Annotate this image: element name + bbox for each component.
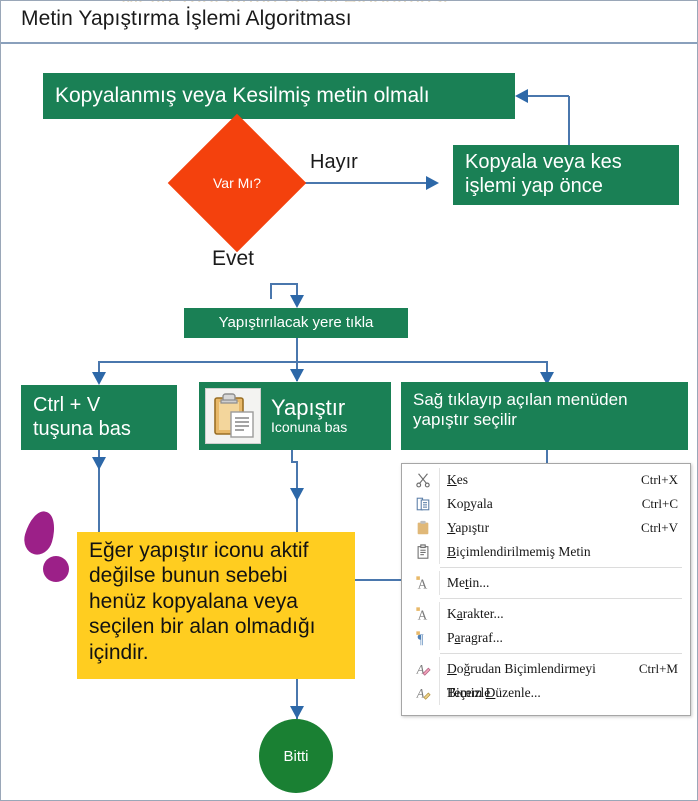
connector-evet-to-click-left-riser	[270, 283, 272, 299]
menu-item-kopyala[interactable]: Kopyala Ctrl+C	[402, 492, 690, 516]
process-copy-or-cut-first-line1: Kopyala veya kes	[465, 151, 622, 173]
process-start-condition-label: Kopyalanmış veya Kesilmiş metin olmalı	[55, 84, 430, 109]
page-title: Metin Yapıştırma İşlemi Algoritması	[21, 7, 661, 31]
process-option-right-click-menu-label: Sağ tıklayıp açılan menüden yapıştır seç…	[413, 390, 628, 430]
menu-item-kes-label: KKeses	[439, 468, 641, 492]
process-option-right-click-menu-line1: Sağ tıklayıp açılan menüden	[413, 390, 628, 409]
menu-item-metin-label: Metin...	[439, 571, 678, 595]
process-copy-or-cut-first-label: Kopyala veya kes işlemi yap önce	[465, 151, 622, 198]
menu-separator	[440, 653, 682, 654]
connector-end-arrowhead	[290, 706, 304, 719]
flowchart-canvas: Metin Yapıştırma İşlemi Algoritması Meti…	[0, 0, 698, 801]
menu-item-kopyala-label: Kopyala	[439, 492, 642, 516]
edge-label-hayir: Hayır	[310, 151, 358, 174]
menu-item-karakter-label: Karakter...	[439, 602, 678, 626]
connector-evet-to-click-horizontal	[270, 283, 297, 285]
note-line-4: seçilen bir alan olmadığı	[89, 615, 315, 638]
exclamation-stroke-icon	[20, 508, 59, 558]
process-option-ctrl-v-label: Ctrl + V tuşuna bas	[33, 394, 131, 441]
process-option-paste-icon-subtitle: Iconuna bas	[271, 419, 347, 436]
process-option-paste-icon[interactable]: Yapıştır Iconuna bas	[199, 382, 391, 450]
copy-icon	[408, 496, 438, 512]
menu-item-bicimlendirilmemis-metin[interactable]: Biçimlendirilmemiş Metin	[402, 540, 690, 564]
connector-branch-left-arrowhead	[92, 372, 106, 385]
menu-item-paragraf-label: Paragraf...	[439, 626, 678, 650]
process-option-paste-icon-title: Yapıştır	[271, 396, 347, 419]
process-option-right-click-menu-line2: yapıştır seçilir	[413, 410, 517, 429]
menu-item-bicem-duzenle[interactable]: A Biçem Düzenle...	[402, 681, 690, 705]
note-line-5: içindir.	[89, 641, 149, 664]
process-click-paste-location-label: Yapıştırılacak yere tıkla	[219, 314, 374, 332]
clipboard-paste-icon	[408, 520, 438, 536]
edit-style-icon: A	[408, 685, 438, 701]
connector-no-branch	[286, 182, 434, 184]
note-line-3: henüz kopyalana veya	[89, 590, 298, 613]
menu-item-yapistir-label: Yapıştır	[439, 516, 641, 540]
character-a-icon: A	[408, 606, 438, 622]
connector-branch-bus	[98, 361, 547, 363]
note-callout: Eğer yapıştır iconu aktif değilse bunun …	[77, 532, 355, 679]
process-option-ctrl-v-line2: tuşuna bas	[33, 418, 131, 440]
process-start-condition[interactable]: Kopyalanmış veya Kesilmiş metin olmalı	[43, 73, 515, 119]
svg-text:A: A	[416, 686, 425, 700]
menu-item-paragraf[interactable]: ¶ Paragraf...	[402, 626, 690, 650]
menu-item-bicimlendirilmemis-metin-label: Biçimlendirilmemiş Metin	[439, 540, 678, 564]
exclamation-dot-icon	[43, 556, 69, 582]
process-copy-or-cut-first[interactable]: Kopyala veya kes işlemi yap önce	[453, 145, 679, 205]
process-option-ctrl-v[interactable]: Ctrl + V tuşuna bas	[21, 385, 177, 450]
text-a-icon: A	[408, 575, 438, 591]
clipboard-text-icon	[408, 544, 438, 560]
connector-no-branch-arrowhead	[426, 176, 439, 190]
title-divider	[1, 42, 698, 44]
connector-feedback-vertical	[568, 96, 570, 146]
context-menu[interactable]: KKeses Ctrl+X Kopyala Ctrl+C Yapıştır Ct…	[401, 463, 691, 716]
connector-icon-arrowhead	[290, 488, 304, 501]
menu-item-bicem-duzenle-label: Biçem Düzenle...	[439, 681, 678, 705]
menu-item-yapistir[interactable]: Yapıştır Ctrl+V	[402, 516, 690, 540]
menu-separator	[440, 598, 682, 599]
decision-var-mi[interactable]: Var Mı?	[188, 134, 286, 232]
process-option-ctrl-v-line1: Ctrl + V	[33, 394, 100, 416]
connector-feedback-horizontal	[528, 95, 569, 97]
menu-item-dogrudan-bicimlendirmeyi-temizle[interactable]: A Doğrudan Biçimlendirmeyi Temizle Ctrl+…	[402, 657, 690, 681]
menu-item-yapistir-accel: Ctrl+V	[641, 520, 682, 536]
connector-evet-to-click-arrowhead	[290, 295, 304, 308]
menu-item-dogrudan-bicimlendirmeyi-temizle-accel: Ctrl+M	[639, 661, 682, 677]
process-option-paste-icon-labels: Yapıştır Iconuna bas	[271, 396, 347, 436]
connector-feedback-arrowhead	[515, 89, 528, 103]
scissors-icon	[408, 472, 438, 488]
menu-item-karakter[interactable]: A Karakter...	[402, 602, 690, 626]
decision-label: Var Mı?	[188, 134, 286, 232]
title-ghost-text: Metin Yapıştırma İşlemi Algoritması	[121, 0, 541, 2]
menu-item-metin[interactable]: A Metin...	[402, 571, 690, 595]
menu-item-kes-accel: Ctrl+X	[641, 472, 682, 488]
menu-item-dogrudan-bicimlendirmeyi-temizle-label: Doğrudan Biçimlendirmeyi Temizle	[439, 657, 639, 681]
terminator-end-label: Bitti	[283, 748, 308, 765]
note-line-1: Eğer yapıştır iconu aktif	[89, 539, 308, 562]
connector-ctrlv-arrowhead	[92, 457, 106, 470]
process-click-paste-location[interactable]: Yapıştırılacak yere tıkla	[184, 308, 408, 338]
menu-item-kes[interactable]: KKeses Ctrl+X	[402, 468, 690, 492]
clear-formatting-icon: A	[408, 661, 438, 677]
connector-branch-mid-arrowhead	[290, 369, 304, 382]
connector-click-to-bus	[296, 338, 298, 362]
menu-separator	[440, 567, 682, 568]
process-option-right-click-menu[interactable]: Sağ tıklayıp açılan menüden yapıştır seç…	[401, 382, 688, 450]
menu-item-kopyala-accel: Ctrl+C	[642, 496, 682, 512]
process-copy-or-cut-first-line2: işlemi yap önce	[465, 175, 603, 197]
note-line-2: değilse bunun sebebi	[89, 564, 288, 587]
paragraph-pilcrow-icon: ¶	[408, 630, 438, 646]
clipboard-paste-icon	[205, 388, 261, 444]
terminator-end[interactable]: Bitti	[259, 719, 333, 793]
edge-label-evet: Evet	[212, 247, 254, 271]
